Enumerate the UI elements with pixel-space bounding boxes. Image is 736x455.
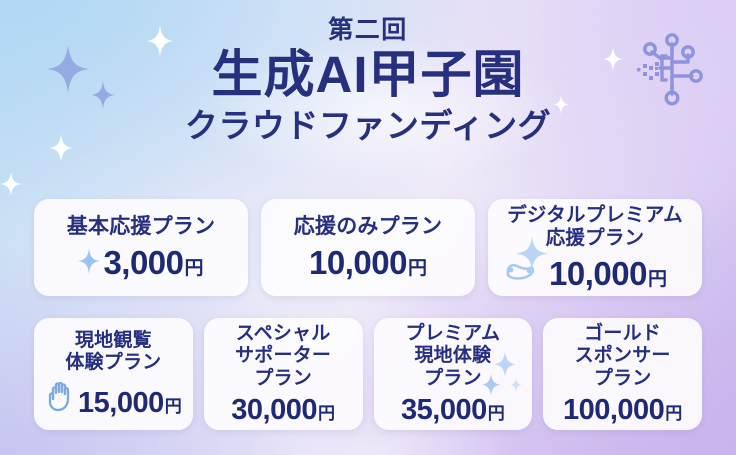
plan-card-premium-onsite[interactable]: プレミアム 現地体験 プラン 35,000 円 [374,318,533,430]
plan-title-line-2: スポンサー [575,345,671,366]
plan-price-line: 100,000 円 [563,396,682,425]
plan-price: 30,000 [231,396,317,425]
page-subtitle: クラウドファンディング [0,109,736,142]
plan-title-line-3: プラン [254,368,312,389]
plan-title-line-2: 体験プラン [65,352,161,373]
plan-price: 15,000 [78,389,164,418]
waving-hand-icon [45,380,75,412]
page-title: 生成AI甲子園 [0,49,736,100]
plan-currency: 円 [318,399,335,424]
plan-title: スペシャル サポーター プラン [235,323,331,389]
plan-card-gold-sponsor[interactable]: ゴールド スポンサー プラン 100,000 円 [543,318,702,430]
plan-title: プレミアム 現地体験 プラン [406,323,501,389]
plan-title-line-1: デジタルプレミアム [507,204,683,226]
plan-title: 現地観覧 体験プラン [65,330,161,374]
plan-price-line: 30,000 円 [231,396,335,425]
edition-label: 第二回 [0,18,736,43]
plan-title-line-2: 応援プラン [546,227,645,249]
sparkle-icon [0,172,22,196]
plan-title-line-1: プレミアム [406,323,501,344]
plan-title-line-2: サポーター [235,345,331,366]
plan-price-line: 15,000 円 [45,380,182,418]
crowdfunding-poster: 第二回 生成AI甲子園 クラウドファンディング 基本応援プラン 3,000 円 … [0,0,736,455]
sparkle-icon [78,248,100,274]
plan-price-line: 3,000 円 [78,246,203,280]
plan-card-support-only[interactable]: 応援のみプラン 10,000 円 [261,199,475,296]
plan-currency: 円 [488,399,505,424]
plan-card-digital-premium-support[interactable]: デジタルプレミアム 応援プラン 10,000 円 [488,199,702,296]
plan-row-bottom: 現地観覧 体験プラン 15,000 円 [34,318,702,430]
plan-price-line: 10,000 円 [523,257,667,291]
plan-price: 3,000 [103,246,183,279]
plan-price: 100,000 [563,396,664,425]
plan-row-top: 基本応援プラン 3,000 円 応援のみプラン 10,000 円 [34,199,702,296]
plan-title-line-3: プラン [424,368,482,389]
plan-card-basic-support[interactable]: 基本応援プラン 3,000 円 [34,199,248,296]
plan-card-onsite-viewing[interactable]: 現地観覧 体験プラン 15,000 円 [34,318,193,430]
plan-currency: 円 [185,253,204,280]
plan-title: ゴールド スポンサー プラン [575,323,671,389]
plan-price-line: 35,000 円 [401,396,505,425]
plan-title: 応援のみプラン [294,215,442,239]
plan-title: デジタルプレミアム 応援プラン [507,204,683,249]
plan-title-line-1: スペシャル [236,323,331,344]
plan-currency: 円 [648,264,667,291]
plan-title-line-1: ゴールド [584,323,661,344]
plan-price: 10,000 [309,246,407,279]
plan-title: 基本応援プラン [67,215,215,239]
plan-title-line-1: 現地観覧 [75,330,152,351]
plan-currency: 円 [165,392,182,417]
plan-title-line-3: プラン [594,368,652,389]
plan-price: 10,000 [549,257,647,290]
plan-price-line: 10,000 円 [309,246,427,280]
plan-price: 35,000 [401,396,487,425]
plan-currency: 円 [665,399,682,424]
plan-card-special-supporter[interactable]: スペシャル サポーター プラン 30,000 円 [204,318,363,430]
plan-currency: 円 [408,253,427,280]
plan-title-line-2: 現地体験 [414,345,491,366]
poster-header: 第二回 生成AI甲子園 クラウドファンディング [0,18,736,142]
